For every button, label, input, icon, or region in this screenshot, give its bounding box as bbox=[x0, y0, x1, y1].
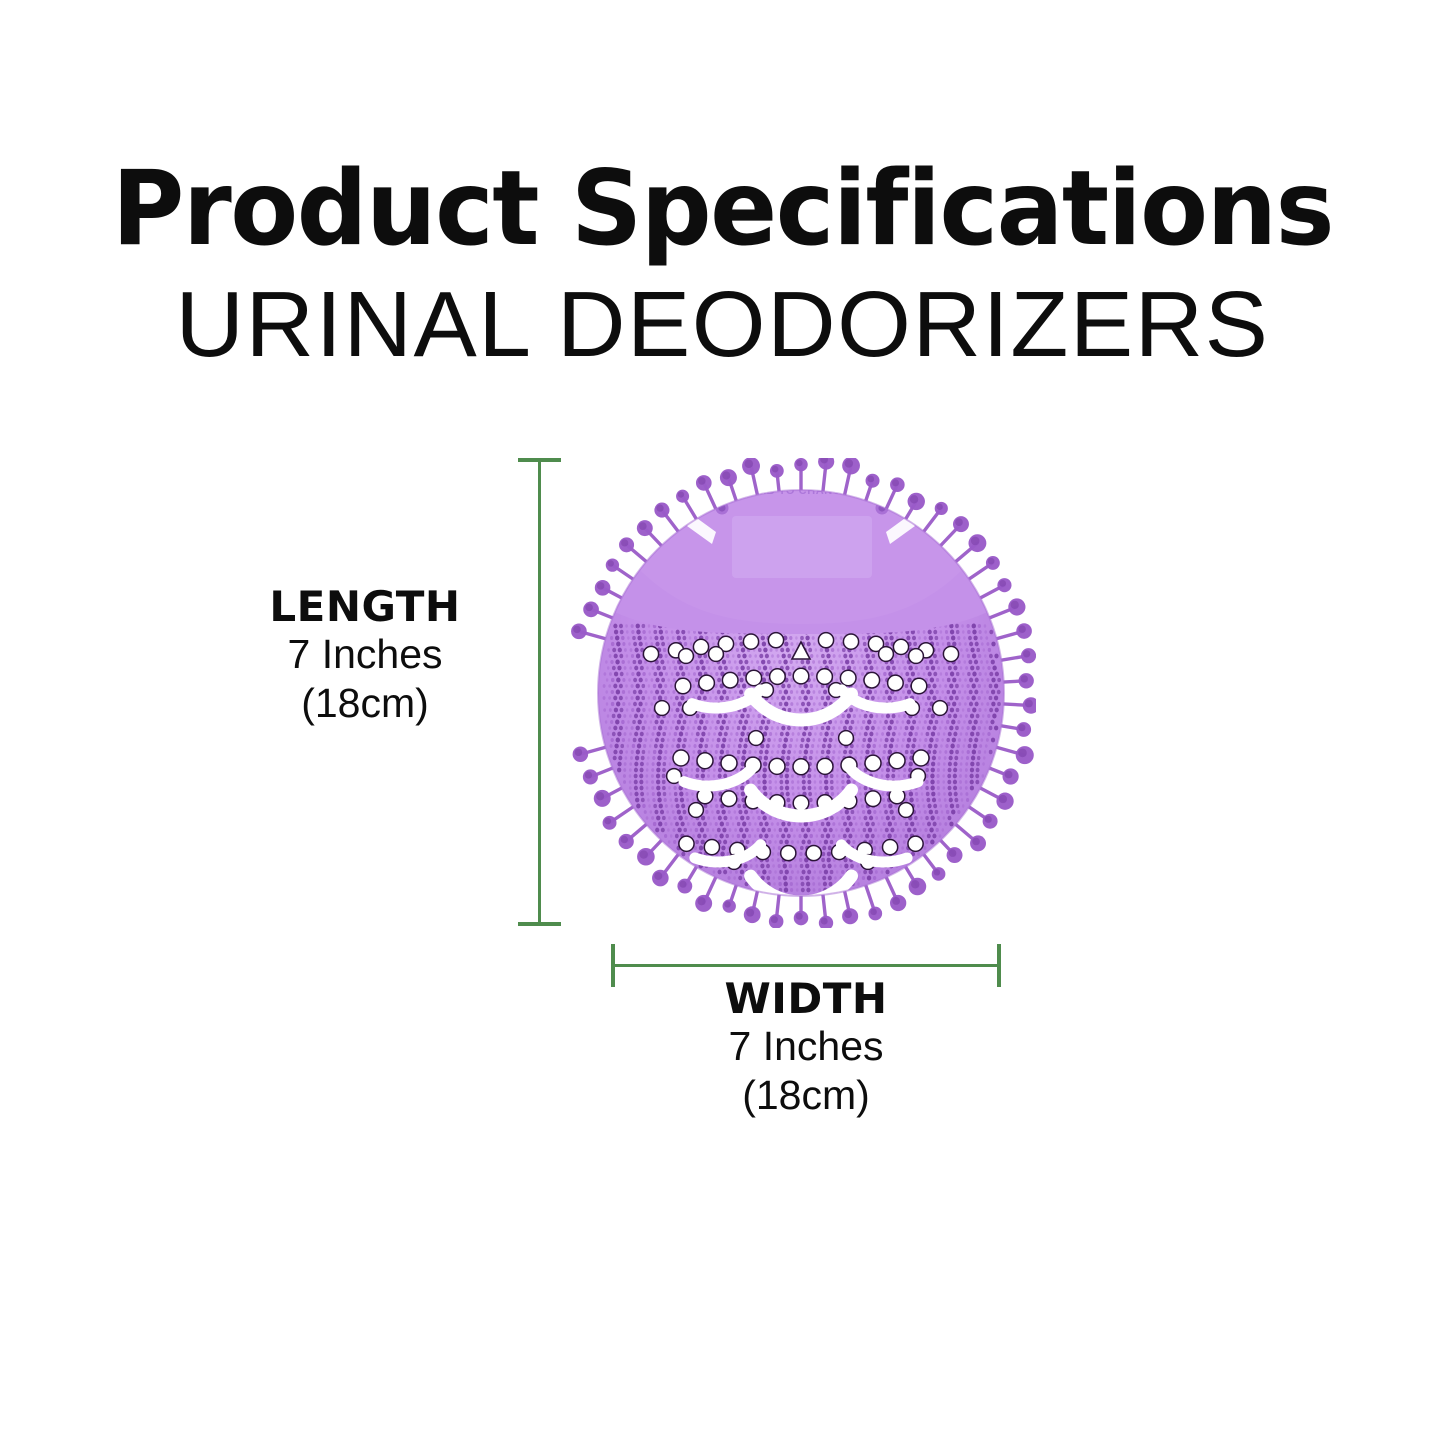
width-label-metric: (18cm) bbox=[606, 1071, 1006, 1120]
page-title: Product Specifications bbox=[29, 158, 1416, 261]
product-image: PULL TAB TO CHANGE DATE bbox=[566, 458, 1036, 928]
length-label-value: 7 Inches bbox=[200, 630, 530, 679]
title-block: Product Specifications URINAL DEODORIZER… bbox=[0, 158, 1445, 374]
width-label: WIDTH 7 Inches (18cm) bbox=[606, 975, 1006, 1120]
length-guide-cap-top bbox=[518, 458, 561, 462]
length-label-name: LENGTH bbox=[200, 583, 530, 630]
top-shoulder-panel: PULL TAB TO CHANGE DATE bbox=[606, 468, 996, 634]
width-label-name: WIDTH bbox=[606, 975, 1006, 1022]
width-label-value: 7 Inches bbox=[606, 1022, 1006, 1071]
width-guide-line bbox=[611, 964, 1001, 967]
length-label-metric: (18cm) bbox=[200, 679, 530, 728]
product-spec-image: Product Specifications URINAL DEODORIZER… bbox=[0, 0, 1445, 1445]
length-guide-cap-bottom bbox=[518, 922, 561, 926]
date-label-panel bbox=[732, 516, 872, 578]
length-guide-line bbox=[538, 458, 541, 926]
page-subtitle: URINAL DEODORIZERS bbox=[0, 275, 1445, 374]
urinal-screen-illustration: PULL TAB TO CHANGE DATE bbox=[566, 458, 1036, 928]
length-label: LENGTH 7 Inches (18cm) bbox=[200, 583, 530, 728]
